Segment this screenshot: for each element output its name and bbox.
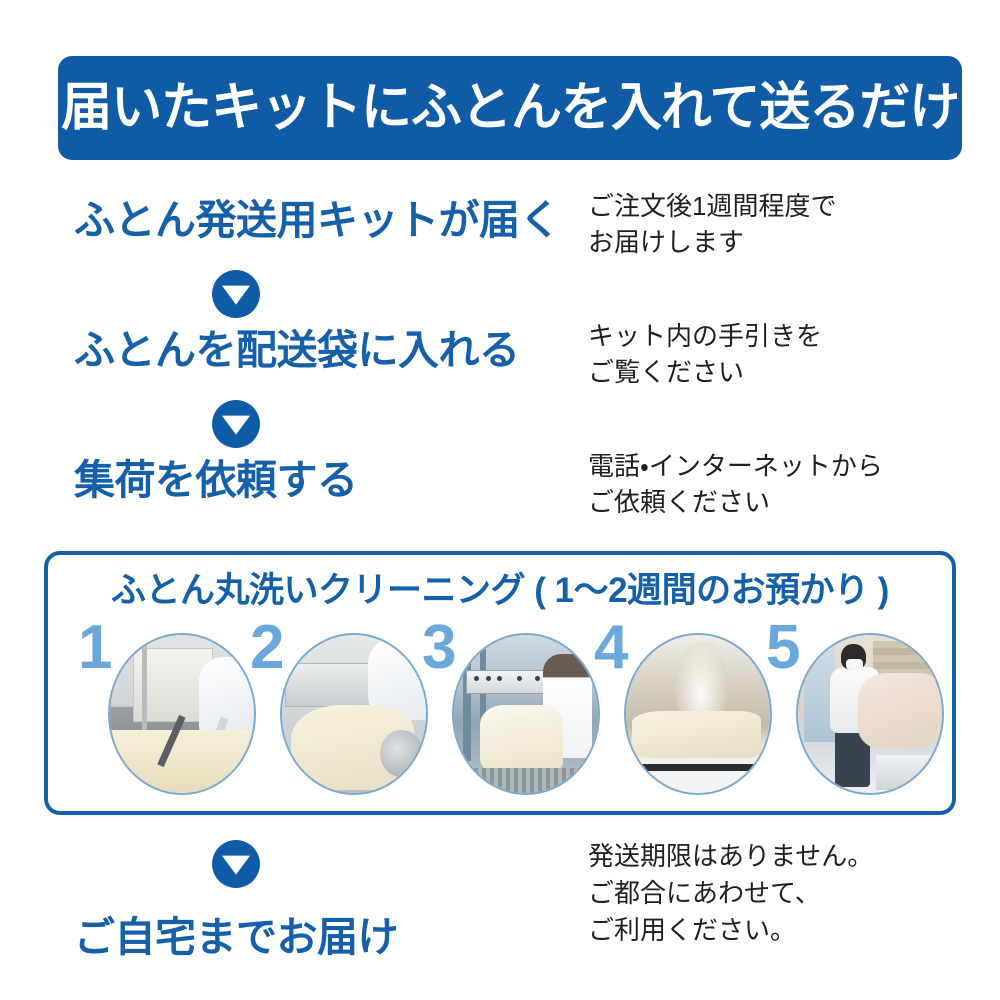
- cleaning-photo-number-3: 3: [422, 617, 456, 679]
- worker-carrying-cleaned-futon-photo: [796, 633, 944, 795]
- cleaning-photo-item-2: 2: [254, 623, 430, 803]
- step-2-description-line-1: キット内の手引きを: [588, 318, 822, 354]
- infographic-page: 届いたキットにふとんを入れて送るだけ ふとん発送用キットが届く ご注文後1週間程…: [0, 0, 1000, 1000]
- cleaning-photo-strip: 1 2 3: [64, 623, 940, 803]
- step-3-description-line-1: 電話・インターネットから: [588, 448, 883, 484]
- futon-steam-drying-photo: [624, 633, 772, 795]
- step-row-3: 集荷を依頼する 電話・インターネットから ご依頼ください: [0, 450, 1000, 516]
- cleaning-photo-item-1: 1: [82, 623, 258, 803]
- footer-description: 発送期限はありません。 ご都合にあわせて、 ご利用ください。: [588, 838, 873, 949]
- footer-description-line-3: ご利用ください。: [588, 912, 873, 949]
- step-1-description-line-1: ご注文後1週間程度で: [588, 188, 836, 224]
- worker-loading-industrial-machine-photo: [452, 633, 600, 795]
- step-row-2: ふとんを配送袋に入れる キット内の手引きを ご覧ください: [0, 320, 1000, 386]
- footer-title: ご自宅までお届け: [74, 910, 398, 964]
- step-1-description-line-2: お届けします: [588, 224, 836, 260]
- steps-flow: ふとん発送用キットが届く ご注文後1週間程度で お届けします ふとんを配送袋に入…: [0, 182, 1000, 534]
- step-2-description-line-2: ご覧ください: [588, 354, 822, 390]
- step-2-title: ふとんを配送袋に入れる: [74, 320, 520, 380]
- step-1-description: ご注文後1週間程度で お届けします: [588, 188, 836, 260]
- cleaning-photo-number-1: 1: [78, 617, 112, 679]
- step-3-title: 集荷を依頼する: [74, 450, 358, 510]
- step-1-title: ふとん発送用キットが届く: [74, 190, 560, 250]
- cleaning-photo-number-2: 2: [250, 617, 284, 679]
- step-3-description-line-2: ご依頼ください: [588, 484, 883, 520]
- footer-description-line-2: ご都合にあわせて、: [588, 875, 873, 912]
- cleaning-photo-item-5: 5: [770, 623, 946, 803]
- footer-delivery-section: ご自宅までお届け 発送期限はありません。 ご都合にあわせて、 ご利用ください。: [0, 830, 1000, 980]
- cleaning-photo-item-4: 4: [598, 623, 774, 803]
- cleaning-process-box: ふとん丸洗いクリーニング ( 1〜2週間のお預かり ) 1 2: [44, 551, 956, 815]
- cleaning-photo-number-5: 5: [766, 617, 800, 679]
- futon-fed-into-washing-machine-photo: [280, 633, 428, 795]
- worker-pretreating-futon-photo: [108, 633, 256, 795]
- step-2-description: キット内の手引きを ご覧ください: [588, 318, 822, 390]
- step-3-description: 電話・インターネットから ご依頼ください: [588, 448, 883, 520]
- cleaning-photo-number-4: 4: [594, 617, 628, 679]
- triangle-down-icon: [212, 840, 260, 888]
- cleaning-process-title: ふとん丸洗いクリーニング ( 1〜2週間のお預かり ): [48, 569, 952, 613]
- cleaning-photo-item-3: 3: [426, 623, 602, 803]
- footer-description-line-1: 発送期限はありません。: [588, 838, 873, 875]
- step-row-1: ふとん発送用キットが届く ご注文後1週間程度で お届けします: [0, 190, 1000, 256]
- header-banner: 届いたキットにふとんを入れて送るだけ: [58, 56, 962, 160]
- header-banner-title: 届いたキットにふとんを入れて送るだけ: [61, 82, 959, 134]
- triangle-down-icon: [212, 400, 260, 448]
- triangle-down-icon: [212, 270, 260, 318]
